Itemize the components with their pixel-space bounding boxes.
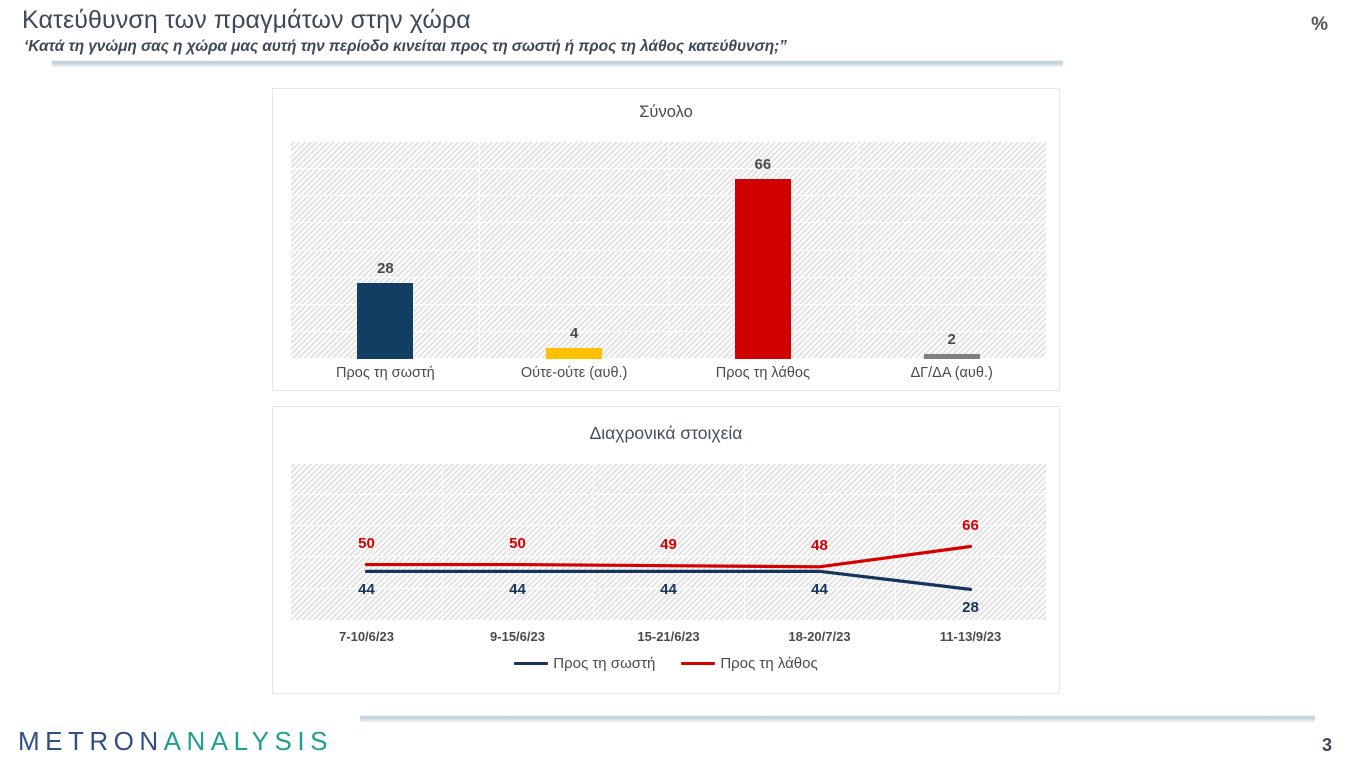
legend-label: Προς τη λάθος bbox=[720, 655, 817, 672]
bar bbox=[924, 354, 980, 359]
footer-divider bbox=[360, 715, 1315, 722]
line-chart-legend: Προς τη σωστήΠρος τη λάθος bbox=[273, 655, 1059, 672]
bar-group: 2 bbox=[857, 141, 1046, 359]
legend-label: Προς τη σωστή bbox=[553, 655, 655, 672]
line-chart-card: Διαχρονικά στοιχεία 44444444285050494866… bbox=[272, 406, 1060, 694]
page-number: 3 bbox=[1322, 735, 1332, 756]
line-chart-title: Διαχρονικά στοιχεία bbox=[273, 423, 1059, 444]
page-title: Κατεύθυνση των πραγμάτων στην χώρα bbox=[22, 6, 471, 35]
bar-group: 4 bbox=[480, 141, 669, 359]
bar-value-label: 2 bbox=[947, 331, 955, 348]
bar-category-label: Προς τη σωστή bbox=[291, 365, 480, 381]
bar-value-label: 66 bbox=[755, 156, 772, 173]
header-divider bbox=[52, 60, 1063, 67]
bar bbox=[546, 348, 602, 359]
bar bbox=[357, 283, 413, 359]
line-point-label: 44 bbox=[660, 581, 677, 598]
logo-metron: METRON bbox=[18, 726, 164, 756]
bar-group: 66 bbox=[669, 141, 858, 359]
bar-category-label: Προς τη λάθος bbox=[669, 365, 858, 381]
line-x-axis-label: 18-20/7/23 bbox=[788, 629, 850, 644]
line-x-axis-label: 11-13/9/23 bbox=[940, 629, 1001, 644]
line-point-label: 48 bbox=[811, 537, 828, 554]
bar-category-label: Ούτε-ούτε (αυθ.) bbox=[480, 365, 669, 381]
line-point-label: 50 bbox=[358, 535, 375, 552]
legend-swatch-icon bbox=[681, 662, 715, 666]
legend-item[interactable]: Προς τη λάθος bbox=[681, 655, 817, 672]
bar bbox=[735, 179, 791, 359]
bar-value-label: 4 bbox=[570, 325, 578, 342]
line-x-axis-label: 9-15/6/23 bbox=[490, 629, 545, 644]
line-point-label: 28 bbox=[962, 599, 979, 616]
line-point-label: 44 bbox=[358, 581, 375, 598]
bar-chart-card: Σύνολο 284662 Προς τη σωστήΟύτε-ούτε (αυ… bbox=[272, 88, 1060, 391]
slide: Κατεύθυνση των πραγμάτων στην χώρα ‘Κατά… bbox=[0, 0, 1360, 765]
percent-unit-label: % bbox=[1311, 14, 1328, 36]
bar-chart-title: Σύνολο bbox=[273, 103, 1059, 122]
legend-item[interactable]: Προς τη σωστή bbox=[514, 655, 655, 672]
legend-swatch-icon bbox=[514, 662, 548, 666]
line-point-label: 66 bbox=[962, 517, 979, 534]
metron-analysis-logo: METRONANALYSIS bbox=[18, 726, 333, 757]
bar-value-label: 28 bbox=[377, 260, 394, 277]
line-point-label: 44 bbox=[509, 581, 526, 598]
logo-analysis: ANALYSIS bbox=[164, 726, 333, 756]
slide-header: Κατεύθυνση των πραγμάτων στην χώρα ‘Κατά… bbox=[0, 0, 1360, 78]
line-point-label: 49 bbox=[660, 536, 677, 553]
page-subtitle: ‘Κατά τη γνώμη σας η χώρα μας αυτή την π… bbox=[24, 38, 787, 56]
line-point-label: 44 bbox=[811, 581, 828, 598]
line-x-axis-label: 15-21/6/23 bbox=[637, 629, 699, 644]
bar-chart-plot-area: 284662 bbox=[291, 141, 1046, 359]
bar-group: 28 bbox=[291, 141, 480, 359]
line-x-axis-label: 7-10/6/23 bbox=[339, 629, 394, 644]
bar-category-label: ΔΓ/ΔΑ (αυθ.) bbox=[857, 365, 1046, 381]
line-point-label: 50 bbox=[509, 535, 526, 552]
